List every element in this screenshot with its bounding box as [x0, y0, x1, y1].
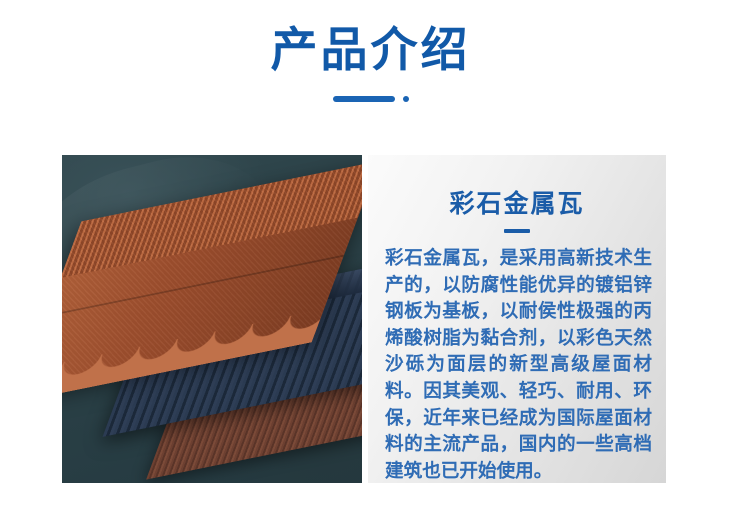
panel-heading: 彩石金属瓦 — [368, 155, 666, 220]
divider-dot-icon — [403, 96, 409, 102]
info-panel: 彩石金属瓦 彩石金属瓦，是采用高新技术生产的，以防腐性能优异的镀铝锌钢板为基板，… — [368, 155, 666, 483]
product-photo — [62, 155, 362, 483]
divider-bar-icon — [333, 96, 395, 102]
panel-heading-rule — [504, 229, 530, 233]
title-divider — [0, 92, 741, 106]
panel-body-text: 彩石金属瓦，是采用高新技术生产的，以防腐性能优异的镀铝锌钢板为基板，以耐侯性极强… — [368, 245, 666, 483]
content-row: 彩石金属瓦 彩石金属瓦，是采用高新技术生产的，以防腐性能优异的镀铝锌钢板为基板，… — [0, 155, 741, 483]
page-title: 产品介绍 — [0, 22, 741, 78]
page-header: 产品介绍 — [0, 0, 741, 140]
roof-tile-stack — [62, 155, 362, 483]
